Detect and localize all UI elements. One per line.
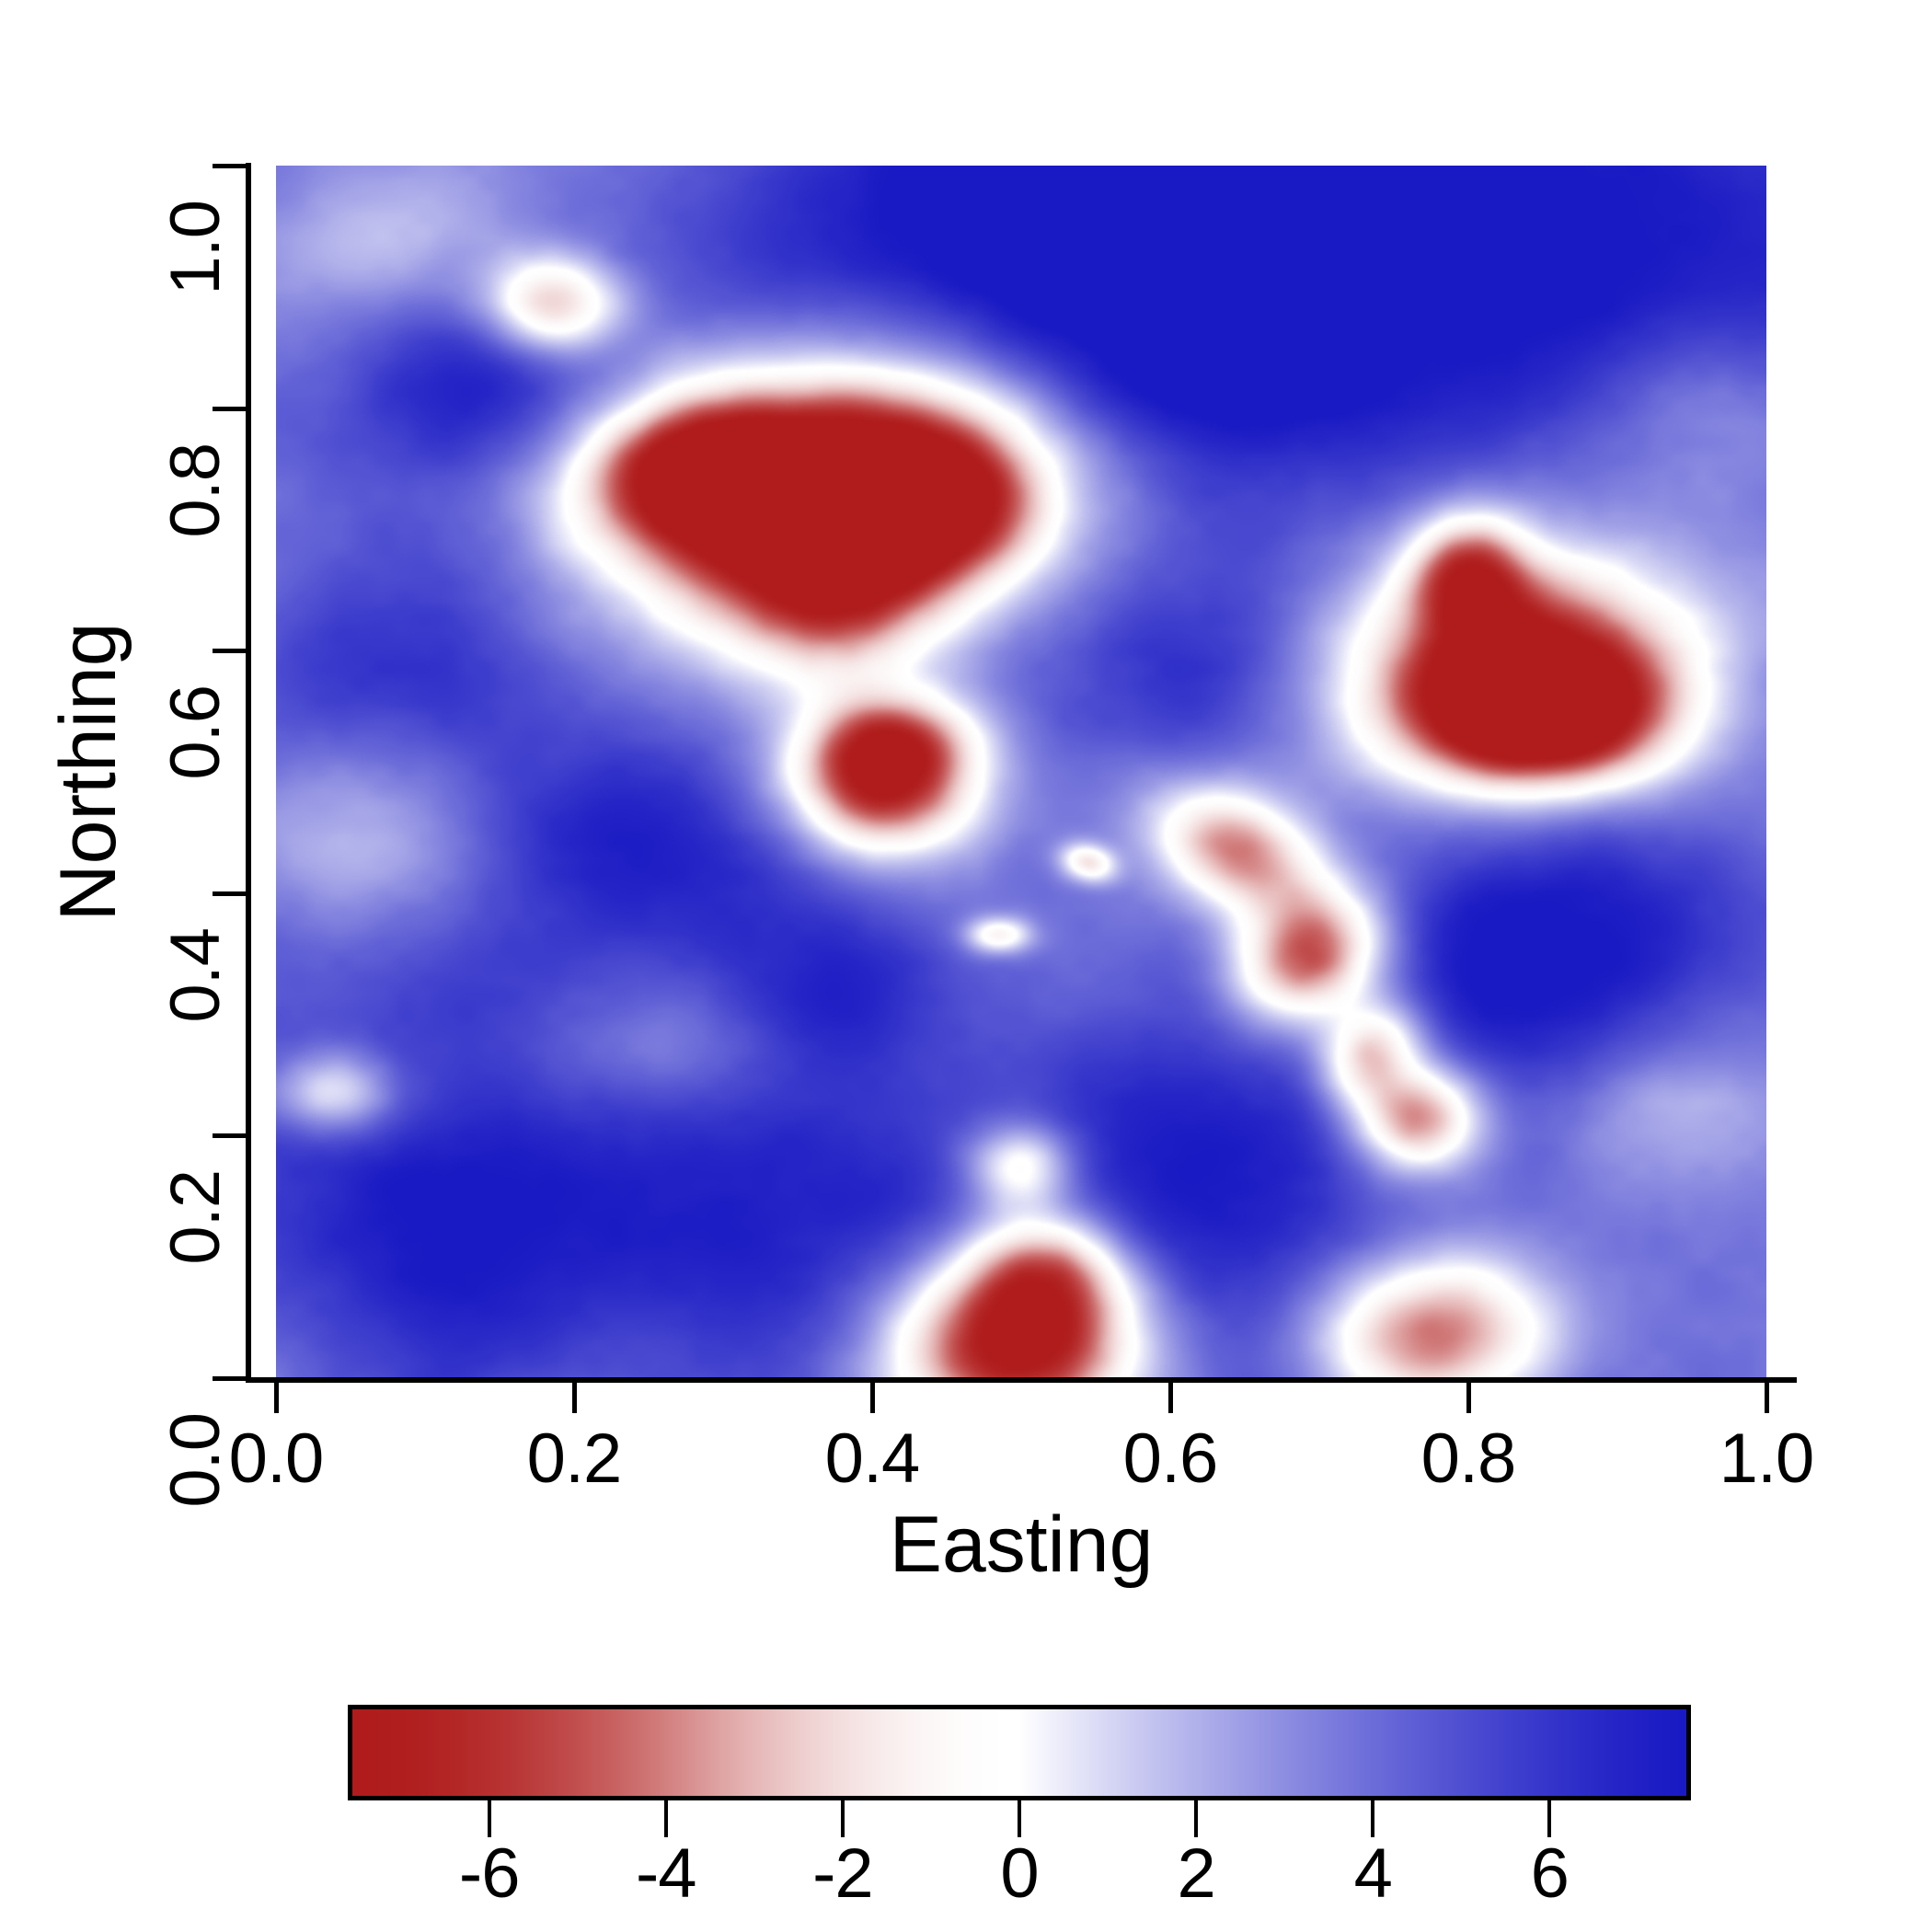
y-tick-mark bbox=[213, 891, 246, 896]
y-tick-mark bbox=[213, 1133, 246, 1138]
colorbar-tick-mark bbox=[488, 1800, 491, 1837]
colorbar-tick-label: -6 bbox=[459, 1839, 520, 1909]
colorbar-gradient bbox=[348, 1705, 1691, 1800]
y-tick-mark bbox=[213, 649, 246, 653]
x-tick-mark bbox=[1168, 1380, 1173, 1413]
heatmap-panel bbox=[276, 166, 1766, 1378]
x-tick-label: 1.0 bbox=[1719, 1424, 1814, 1494]
y-tick-label: 0.8 bbox=[161, 443, 231, 538]
colorbar bbox=[348, 1705, 1691, 1800]
y-tick-label: 1.0 bbox=[161, 201, 231, 295]
colorbar-tick-label: -4 bbox=[636, 1839, 696, 1909]
colorbar-tick-label: 6 bbox=[1531, 1839, 1569, 1909]
x-tick-label: 0.6 bbox=[1123, 1424, 1218, 1494]
y-tick-label: 0.4 bbox=[161, 928, 231, 1023]
x-axis-line bbox=[246, 1377, 1797, 1383]
colorbar-tick-label: -2 bbox=[812, 1839, 873, 1909]
y-tick-mark bbox=[213, 407, 246, 411]
x-tick-label: 0.0 bbox=[229, 1424, 324, 1494]
x-tick-mark bbox=[274, 1380, 279, 1413]
colorbar-tick-mark bbox=[1194, 1800, 1198, 1837]
y-tick-label: 0.0 bbox=[161, 1413, 231, 1508]
y-tick-mark bbox=[213, 164, 246, 168]
colorbar-tick-label: 2 bbox=[1177, 1839, 1214, 1909]
y-axis-line bbox=[246, 163, 251, 1381]
x-tick-mark bbox=[1466, 1380, 1471, 1413]
colorbar-tick-mark bbox=[1018, 1800, 1021, 1837]
x-tick-label: 0.2 bbox=[527, 1424, 622, 1494]
y-tick-mark bbox=[213, 1376, 246, 1381]
colorbar-tick-mark bbox=[1547, 1800, 1551, 1837]
x-tick-mark bbox=[870, 1380, 875, 1413]
y-tick-label: 0.2 bbox=[161, 1170, 231, 1265]
x-axis-title: Easting bbox=[890, 1505, 1154, 1584]
x-tick-mark bbox=[1765, 1380, 1769, 1413]
colorbar-tick-mark bbox=[664, 1800, 668, 1837]
colorbar-tick-mark bbox=[841, 1800, 845, 1837]
y-tick-label: 0.6 bbox=[161, 685, 231, 780]
x-tick-label: 0.4 bbox=[825, 1424, 920, 1494]
colorbar-tick-label: 4 bbox=[1354, 1839, 1392, 1909]
heatmap-figure: 0.00.20.40.60.81.0 0.00.20.40.60.81.0 Ea… bbox=[0, 0, 1932, 1932]
colorbar-tick-mark bbox=[1371, 1800, 1374, 1837]
x-tick-mark bbox=[572, 1380, 577, 1413]
spatial-field-raster bbox=[276, 166, 1766, 1378]
x-tick-label: 0.8 bbox=[1421, 1424, 1516, 1494]
colorbar-tick-label: 0 bbox=[1000, 1839, 1038, 1909]
y-axis-title: Northing bbox=[49, 622, 128, 921]
